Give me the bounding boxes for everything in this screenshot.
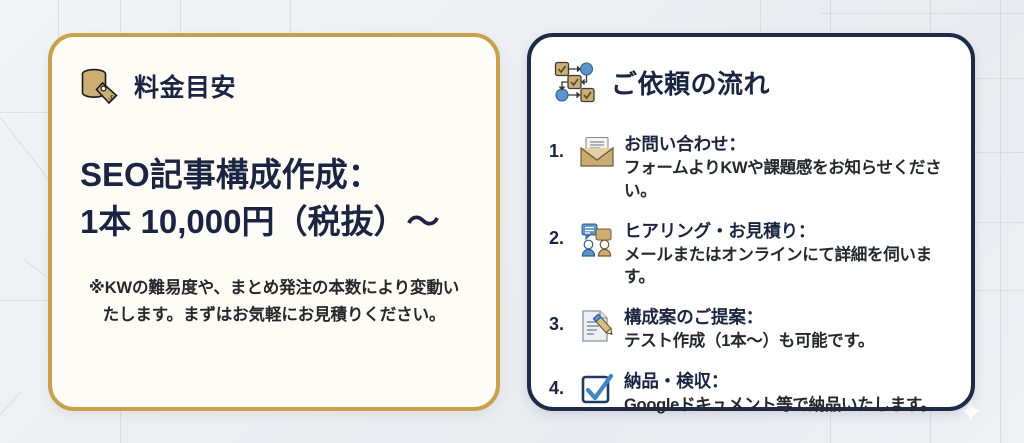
flow-card-header: ご依頼の流れ [553, 59, 770, 105]
flow-step-text: 納品・検収： Googleドキュメント等で納品いたします。 [620, 370, 959, 417]
flow-step-title: お問い合わせ： [624, 134, 746, 154]
flow-step-item: 4. 納品・検収： Googleドキュメント等で納品いたします。 [549, 370, 959, 417]
flow-step-description: フォームよりKWや課題感をお知らせください。 [624, 157, 959, 203]
bg-line [1000, 0, 1001, 443]
coins-price-tag-icon: S [78, 65, 122, 107]
price-heading: SEO記事構成作成： 1本 10,000円（税抜）〜 [80, 152, 439, 246]
pricing-card-title: 料金目安 [134, 68, 236, 104]
envelope-icon [574, 133, 620, 168]
flow-step-title: 納品・検収： [624, 371, 728, 391]
flow-step-number: 4. [549, 370, 574, 399]
flow-step-text: お問い合わせ： フォームよりKWや課題感をお知らせください。 [620, 133, 959, 203]
flow-step-description: テスト作成（1本〜）も可能です。 [624, 330, 959, 353]
flow-step-text: ヒアリング・お見積り： メールまたはオンラインにて詳細を伺います。 [620, 220, 959, 290]
pricing-card-header: S 料金目安 [78, 65, 236, 107]
flow-step-number: 3. [549, 306, 574, 335]
flow-step-number: 1. [549, 133, 574, 162]
checkbox-check-icon [574, 370, 620, 405]
price-note-line-1: ※KWの難易度や、まとめ発注の本数により変動い [72, 275, 476, 302]
price-note-line-2: たします。まずはお気軽にお見積りください。 [72, 302, 476, 329]
price-note: ※KWの難易度や、まとめ発注の本数により変動い たします。まずはお気軽にお見積り… [72, 275, 476, 328]
people-chat-icon [574, 220, 620, 257]
flow-step-item: 3. [549, 306, 959, 353]
flow-step-description: メールまたはオンラインにて詳細を伺います。 [624, 244, 959, 290]
flow-step-title: 構成案のご提案： [624, 307, 763, 327]
flow-step-description: Googleドキュメント等で納品いたします。 [624, 394, 959, 417]
flow-diagram-icon [553, 59, 599, 105]
price-heading-line-1: SEO記事構成作成： [80, 152, 439, 199]
flow-step-list: 1. お問い合わせ： フォームよりKWや課題感をお知らせください。 [549, 133, 959, 417]
bg-line [0, 392, 21, 443]
flow-step-item: 1. お問い合わせ： フォームよりKWや課題感をお知らせください。 [549, 133, 959, 203]
flow-step-item: 2. [549, 220, 959, 290]
bg-line [820, 13, 1024, 14]
slide-canvas: ✦ ✦ S 料金目安 [0, 0, 1024, 443]
pricing-card: S 料金目安 SEO記事構成作成： 1本 10,000円（税抜）〜 ※KWの難易… [48, 33, 500, 411]
flow-card-title: ご依頼の流れ [611, 64, 770, 101]
flow-step-text: 構成案のご提案： テスト作成（1本〜）も可能です。 [620, 306, 959, 353]
flow-card: ご依頼の流れ 1. お問い合わせ： フォームより [527, 33, 975, 411]
flow-step-title: ヒアリング・お見積り： [624, 221, 815, 241]
document-pencil-icon [574, 306, 620, 343]
price-heading-line-2: 1本 10,000円（税抜）〜 [80, 199, 439, 246]
flow-step-number: 2. [549, 220, 574, 249]
